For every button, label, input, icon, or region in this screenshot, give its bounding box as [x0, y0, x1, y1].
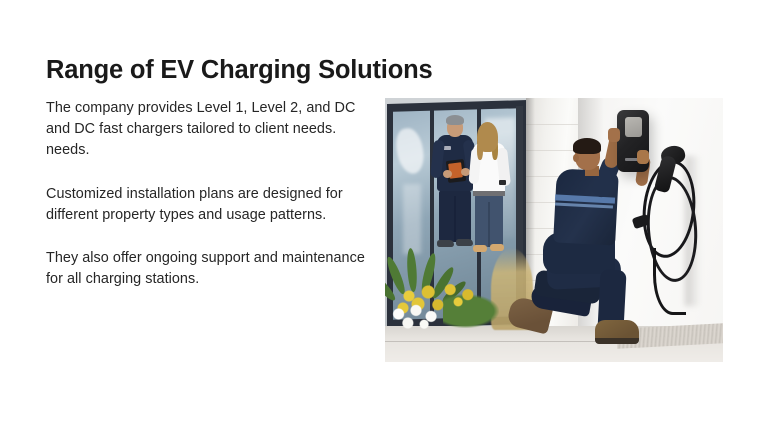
technician-boot-sole — [595, 338, 639, 344]
technician-hair — [573, 138, 601, 154]
page-title: Range of EV Charging Solutions — [46, 55, 686, 86]
paragraph-3: They also offer ongoing support and main… — [46, 248, 376, 290]
charger-display-screen — [625, 117, 642, 137]
technician-hand-upper — [608, 128, 620, 142]
ev-charger-installation-photo — [385, 98, 723, 362]
paragraph-2: Customized installation plans are design… — [46, 184, 376, 226]
body-text-column: The company provides Level 1, Level 2, a… — [46, 98, 376, 290]
slide-canvas: Range of EV Charging Solutions The compa… — [0, 0, 768, 432]
technician-hand-lower — [637, 150, 649, 164]
technician-ear — [573, 154, 579, 162]
paragraph-1: The company provides Level 1, Level 2, a… — [46, 98, 376, 162]
